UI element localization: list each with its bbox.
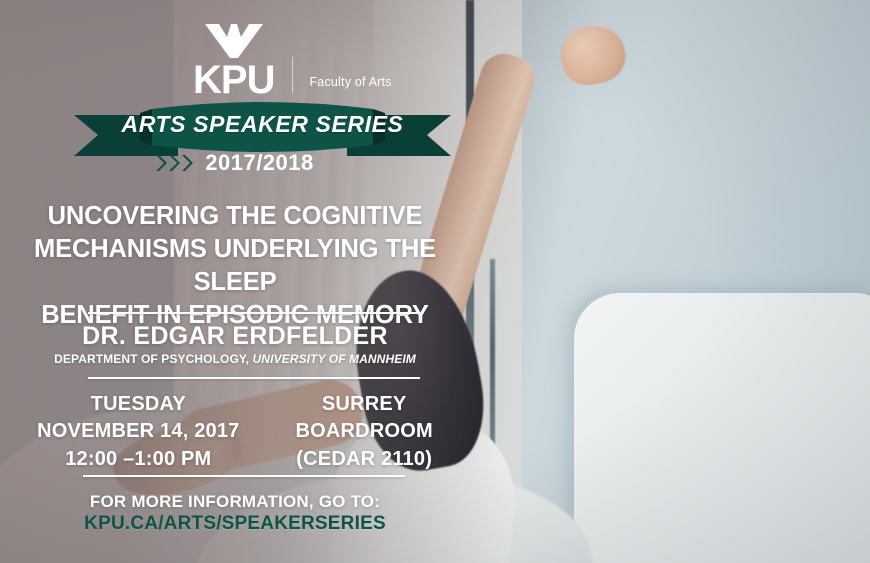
- divider-above-speaker: [88, 312, 420, 314]
- faculty-label: Faculty of Arts: [309, 75, 391, 89]
- kpu-logo: KPU: [193, 24, 274, 99]
- kpu-logo-lockup: KPU Faculty of Arts: [193, 24, 392, 99]
- talk-title-line: MECHANISMS UNDERLYING THE SLEEP: [0, 233, 470, 299]
- event-day: TUESDAY: [37, 392, 239, 416]
- event-campus: SURREY: [296, 392, 433, 416]
- speaker-affiliation: DEPARTMENT OF PSYCHOLOGY, UNIVERSITY OF …: [0, 352, 470, 366]
- event-room-number: (CEDAR 2110): [296, 447, 433, 471]
- speaker-name: DR. EDGAR ERDFELDER: [0, 322, 470, 351]
- event-date-column: TUESDAY NOVEMBER 14, 2017 12:00 –1:00 PM: [37, 392, 239, 471]
- kpu-crown-icon: [205, 24, 263, 58]
- poster-content: KPU Faculty of Arts ARTS SPEAKER SERIES: [0, 0, 870, 563]
- series-year: 2017/2018: [205, 150, 314, 176]
- footer-prompt: FOR MORE INFORMATION, GO TO:: [0, 492, 470, 512]
- chevron-group: [156, 155, 193, 171]
- divider-below-speaker: [88, 377, 420, 379]
- poster-canvas: KPU Faculty of Arts ARTS SPEAKER SERIES: [0, 0, 870, 563]
- chevron-right-icon: [156, 155, 167, 171]
- event-details: TUESDAY NOVEMBER 14, 2017 12:00 –1:00 PM…: [0, 392, 470, 471]
- talk-title-line: UNCOVERING THE COGNITIVE: [0, 200, 470, 233]
- event-room-type: BOARDROOM: [296, 419, 433, 443]
- series-year-row: 2017/2018: [0, 150, 470, 176]
- event-date: NOVEMBER 14, 2017: [37, 419, 239, 443]
- footer-info: FOR MORE INFORMATION, GO TO: KPU.CA/ARTS…: [0, 492, 470, 535]
- logo-divider: [292, 57, 293, 93]
- chevron-right-icon: [169, 155, 180, 171]
- footer-url[interactable]: KPU.CA/ARTS/SPEAKERSERIES: [0, 513, 470, 535]
- event-location-column: SURREY BOARDROOM (CEDAR 2110): [296, 392, 433, 471]
- speaker-department: DEPARTMENT OF PSYCHOLOGY,: [54, 352, 249, 366]
- chevron-right-icon: [182, 155, 193, 171]
- speaker-university: UNIVERSITY OF MANNHEIM: [253, 352, 416, 366]
- event-time: 12:00 –1:00 PM: [37, 447, 239, 471]
- kpu-wordmark: KPU: [193, 62, 274, 99]
- divider-above-footer: [83, 475, 405, 477]
